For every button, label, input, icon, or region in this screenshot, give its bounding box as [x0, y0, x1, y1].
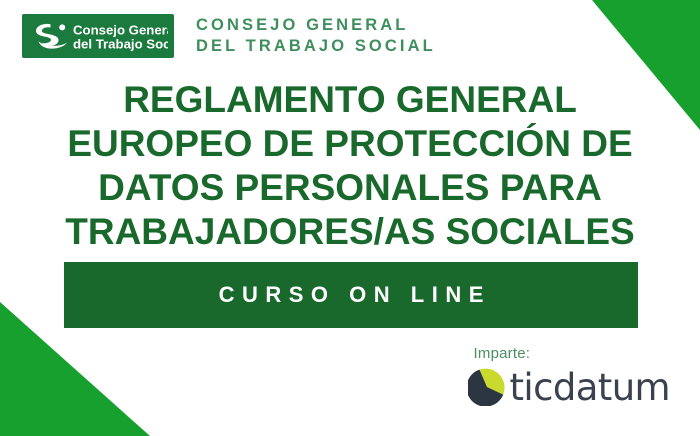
- consejo-logo-artwork: Consejo General del Trabajo Social: [28, 17, 168, 55]
- title-line-3: DATOS PERSONALES PARA: [0, 166, 700, 210]
- provider-block: Imparte: ticdatum: [468, 345, 671, 406]
- ticdatum-circle-icon: [468, 368, 506, 406]
- wordmark-line-1: CONSEJO GENERAL: [196, 15, 678, 36]
- course-poster: Consejo General del Trabajo Social CONSE…: [0, 0, 700, 436]
- title-line-1: REGLAMENTO GENERAL: [0, 78, 700, 122]
- ticdatum-wordmark: ticdatum: [510, 369, 671, 406]
- course-format-banner: CURSO ON LINE: [64, 262, 638, 328]
- svg-text:Consejo General: Consejo General: [73, 22, 168, 37]
- ticdatum-logo: ticdatum: [468, 368, 671, 406]
- poster-header: Consejo General del Trabajo Social CONSE…: [22, 14, 678, 58]
- consejo-general-logo: Consejo General del Trabajo Social: [22, 14, 174, 58]
- provider-label: Imparte:: [474, 345, 671, 362]
- wordmark-line-2: DEL TRABAJO SOCIAL: [196, 36, 678, 57]
- course-format-label: CURSO ON LINE: [211, 282, 491, 308]
- consejo-general-wordmark: CONSEJO GENERAL DEL TRABAJO SOCIAL: [196, 14, 678, 57]
- page-title: REGLAMENTO GENERAL EUROPEO DE PROTECCIÓN…: [0, 78, 700, 253]
- title-line-4: TRABAJADORES/AS SOCIALES: [0, 210, 700, 254]
- svg-text:del Trabajo Social: del Trabajo Social: [73, 36, 168, 51]
- title-line-2: EUROPEO DE PROTECCIÓN DE: [0, 122, 700, 166]
